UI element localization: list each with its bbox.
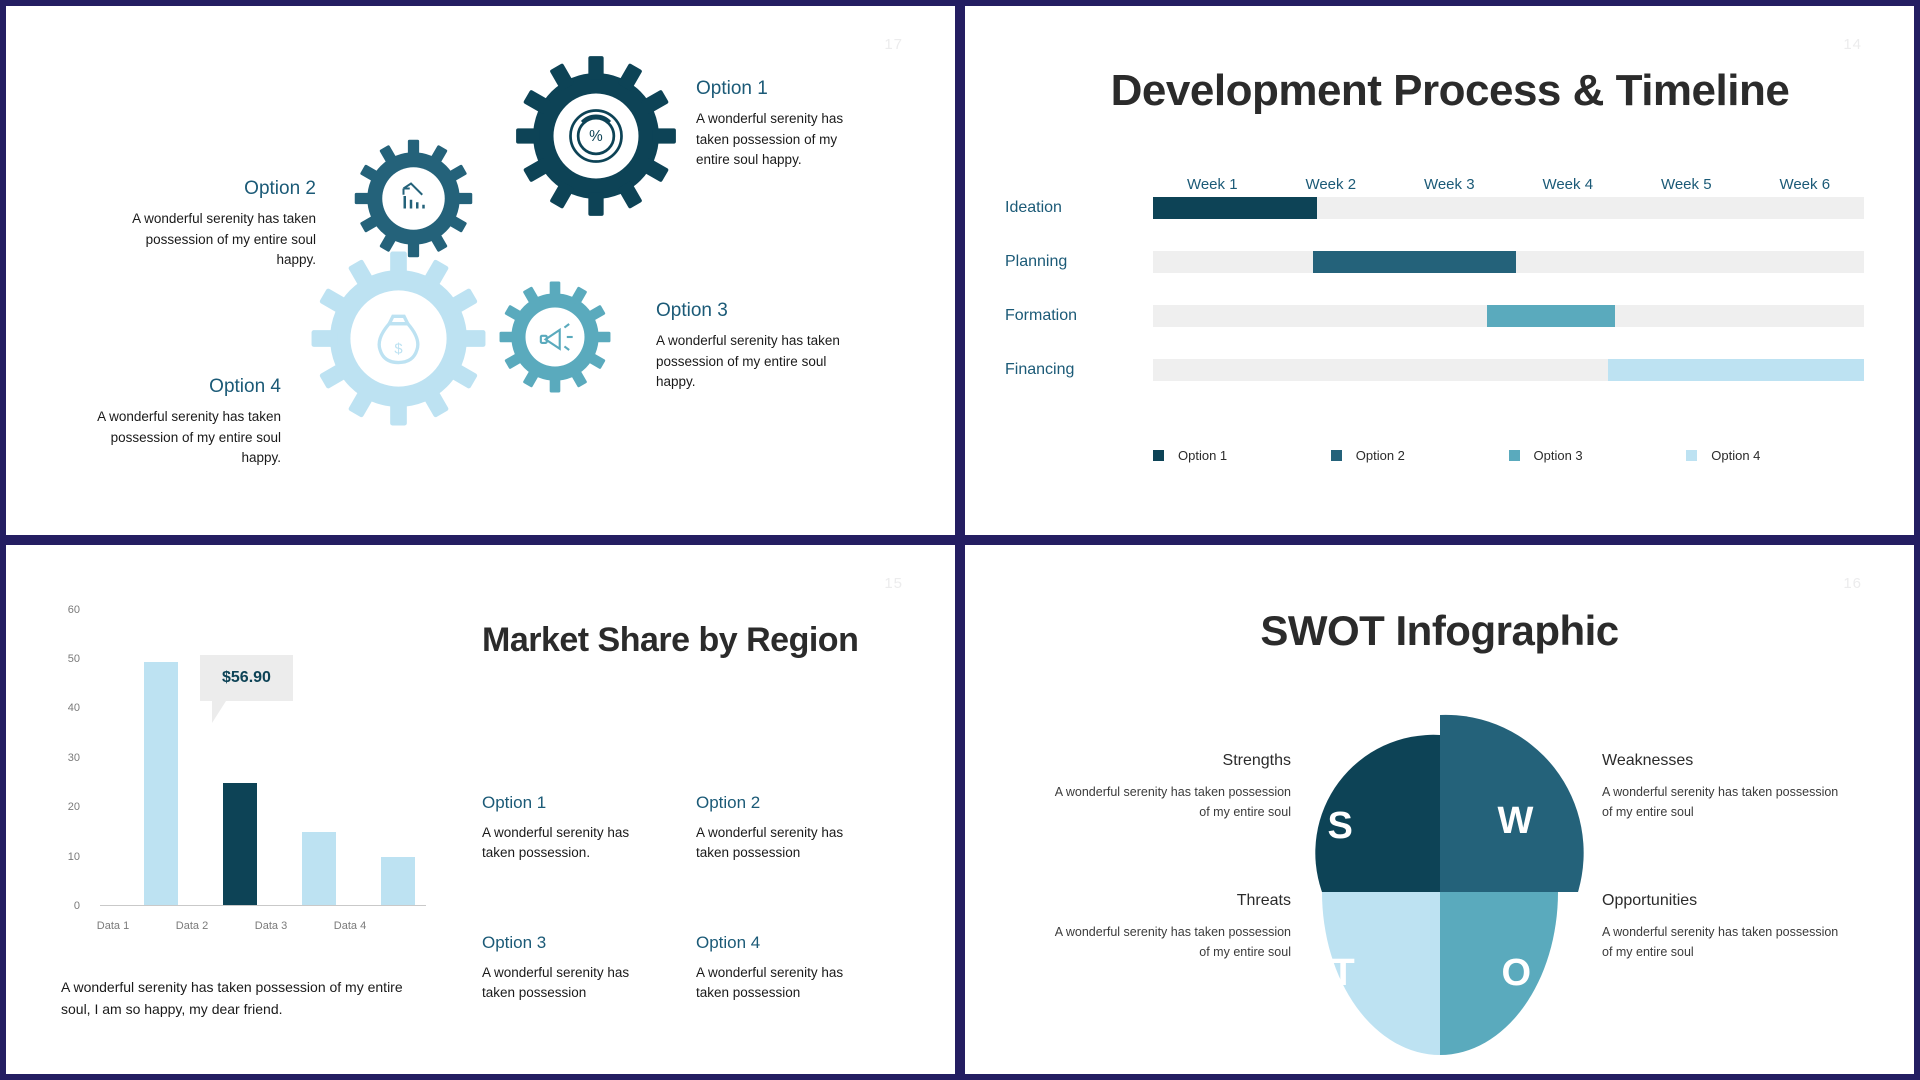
- swot-text-weaknesses[interactable]: Weaknesses A wonderful serenity has take…: [1602, 752, 1852, 822]
- gear-option-3-title: Option 3: [656, 300, 861, 322]
- legend-item[interactable]: Option 1: [1153, 448, 1331, 463]
- bar[interactable]: [302, 832, 336, 906]
- bar[interactable]: [223, 783, 257, 906]
- market-option-2-body: A wonderful serenity has taken possessio…: [696, 823, 876, 862]
- gantt-row[interactable]: Financing: [1005, 348, 1864, 392]
- gear-option-4-block[interactable]: Option 4 A wonderful serenity has taken …: [81, 376, 281, 469]
- value-callout: $56.90: [200, 655, 293, 701]
- swot-body-weaknesses: A wonderful serenity has taken possessio…: [1602, 782, 1852, 822]
- swot-letter-w: W: [1498, 800, 1534, 843]
- gear-option-1-title: Option 1: [696, 78, 868, 100]
- gantt-track: [1153, 197, 1864, 219]
- legend-swatch: [1331, 450, 1342, 461]
- x-axis-tick: Data 1: [78, 920, 148, 932]
- bar[interactable]: [381, 857, 415, 906]
- x-axis-line: [100, 905, 426, 906]
- gantt-row[interactable]: Formation: [1005, 294, 1864, 338]
- x-axis-tick: Data 3: [236, 920, 306, 932]
- market-option-4-body: A wonderful serenity has taken possessio…: [696, 963, 876, 1002]
- y-axis-tick: 20: [52, 801, 80, 813]
- swot-body-threats: A wonderful serenity has taken possessio…: [1041, 922, 1291, 962]
- x-axis-tick: Data 2: [157, 920, 227, 932]
- x-axis-tick: Data 4: [315, 920, 385, 932]
- gantt-bar[interactable]: [1608, 359, 1864, 381]
- gantt-track: [1153, 251, 1864, 273]
- swot-title: SWOT Infographic: [965, 607, 1914, 655]
- y-axis-tick: 40: [52, 702, 80, 714]
- slide-number: 14: [1843, 36, 1862, 53]
- swot-heading-opportunities: Opportunities: [1602, 892, 1852, 910]
- gantt-row[interactable]: Planning: [1005, 240, 1864, 284]
- gear-option-3: [496, 278, 614, 396]
- gear-option-2-title: Option 2: [116, 178, 316, 200]
- bar[interactable]: [144, 662, 178, 906]
- market-option-3-title: Option 3: [482, 933, 662, 953]
- svg-text:$: $: [394, 341, 402, 357]
- gantt-bar[interactable]: [1153, 197, 1317, 219]
- bar-chart: 60 50 40 30 20 10 0 Data 1 Data 2 Data 3…: [52, 610, 432, 940]
- gear-option-1: %: [511, 51, 681, 221]
- market-option-2-title: Option 2: [696, 793, 876, 813]
- slide-grid: 17: [0, 0, 1920, 1080]
- gear-option-1-block[interactable]: Option 1 A wonderful serenity has taken …: [696, 78, 868, 171]
- y-axis-tick: 60: [52, 604, 80, 616]
- legend-item[interactable]: Option 2: [1331, 448, 1509, 463]
- gantt-row-label: Formation: [1005, 307, 1153, 325]
- y-axis-tick: 50: [52, 653, 80, 665]
- market-option-4-title: Option 4: [696, 933, 876, 953]
- gantt-legend: Option 1 Option 2 Option 3 Option 4: [1153, 448, 1864, 463]
- gantt-row-label: Planning: [1005, 253, 1153, 271]
- legend-item[interactable]: Option 3: [1509, 448, 1687, 463]
- swot-quadrant-opportunities[interactable]: [1440, 892, 1558, 1055]
- swot-body-opportunities: A wonderful serenity has taken possessio…: [1602, 922, 1852, 962]
- slide-number: 15: [884, 575, 903, 592]
- swot-heading-strengths: Strengths: [1041, 752, 1291, 770]
- slide-market-share[interactable]: 15 60 50 40 30 20 10 0 Data 1 Data 2 Dat…: [6, 545, 955, 1074]
- gear-option-2: [351, 136, 476, 261]
- market-option-1-title: Option 1: [482, 793, 662, 813]
- y-axis-tick: 10: [52, 851, 80, 863]
- slide-swot[interactable]: 16 SWOT Infographic S W T O Strengths A …: [965, 545, 1914, 1074]
- swot-letter-o: O: [1502, 952, 1532, 995]
- slide-number: 16: [1843, 575, 1862, 592]
- gantt-bar[interactable]: [1487, 305, 1615, 327]
- swot-letter-t: T: [1332, 952, 1355, 995]
- gear-option-2-body: A wonderful serenity has taken possessio…: [116, 209, 316, 271]
- legend-label: Option 1: [1178, 448, 1227, 463]
- legend-label: Option 4: [1711, 448, 1760, 463]
- gear-option-4-title: Option 4: [81, 376, 281, 398]
- gantt-bar[interactable]: [1313, 251, 1516, 273]
- timeline-title: Development Process & Timeline: [1020, 66, 1880, 116]
- gantt-chart: Week 1 Week 2 Week 3 Week 4 Week 5 Week …: [1005, 176, 1864, 392]
- swot-text-threats[interactable]: Threats A wonderful serenity has taken p…: [1041, 892, 1291, 962]
- gantt-track: [1153, 359, 1864, 381]
- y-axis-tick: 0: [52, 900, 80, 912]
- market-option-2[interactable]: Option 2 A wonderful serenity has taken …: [696, 793, 876, 862]
- swot-letter-s: S: [1328, 805, 1353, 848]
- swot-circle-graphic: [1285, 700, 1595, 1074]
- swot-text-strengths[interactable]: Strengths A wonderful serenity has taken…: [1041, 752, 1291, 822]
- market-option-4[interactable]: Option 4 A wonderful serenity has taken …: [696, 933, 876, 1002]
- gear-option-4-body: A wonderful serenity has taken possessio…: [81, 407, 281, 469]
- legend-label: Option 3: [1534, 448, 1583, 463]
- swot-heading-weaknesses: Weaknesses: [1602, 752, 1852, 770]
- y-axis-tick: 30: [52, 752, 80, 764]
- market-option-1[interactable]: Option 1 A wonderful serenity has taken …: [482, 793, 662, 862]
- gantt-row[interactable]: Ideation: [1005, 186, 1864, 230]
- market-option-1-body: A wonderful serenity has taken possessio…: [482, 823, 662, 862]
- gear-option-2-block[interactable]: Option 2 A wonderful serenity has taken …: [116, 178, 316, 271]
- svg-text:%: %: [589, 128, 603, 145]
- gear-option-3-block[interactable]: Option 3 A wonderful serenity has taken …: [656, 300, 861, 393]
- slide-gears[interactable]: 17: [6, 6, 955, 535]
- swot-heading-threats: Threats: [1041, 892, 1291, 910]
- gantt-row-label: Ideation: [1005, 199, 1153, 217]
- slide-timeline[interactable]: 14 Development Process & Timeline Week 1…: [965, 6, 1914, 535]
- swot-text-opportunities[interactable]: Opportunities A wonderful serenity has t…: [1602, 892, 1852, 962]
- legend-label: Option 2: [1356, 448, 1405, 463]
- legend-swatch: [1509, 450, 1520, 461]
- swot-diagram: S W T O Strengths A wonderful serenity h…: [965, 700, 1914, 1074]
- legend-swatch: [1686, 450, 1697, 461]
- swot-body-strengths: A wonderful serenity has taken possessio…: [1041, 782, 1291, 822]
- legend-item[interactable]: Option 4: [1686, 448, 1864, 463]
- legend-swatch: [1153, 450, 1164, 461]
- gear-option-3-body: A wonderful serenity has taken possessio…: [656, 331, 861, 393]
- gantt-row-label: Financing: [1005, 361, 1153, 379]
- chart-caption: A wonderful serenity has taken possessio…: [61, 977, 421, 1020]
- gear-option-1-body: A wonderful serenity has taken possessio…: [696, 109, 868, 171]
- market-option-3-body: A wonderful serenity has taken possessio…: [482, 963, 662, 1002]
- market-option-3[interactable]: Option 3 A wonderful serenity has taken …: [482, 933, 662, 1002]
- market-title: Market Share by Region: [482, 620, 872, 661]
- gear-option-4: $: [306, 246, 491, 431]
- gantt-track: [1153, 305, 1864, 327]
